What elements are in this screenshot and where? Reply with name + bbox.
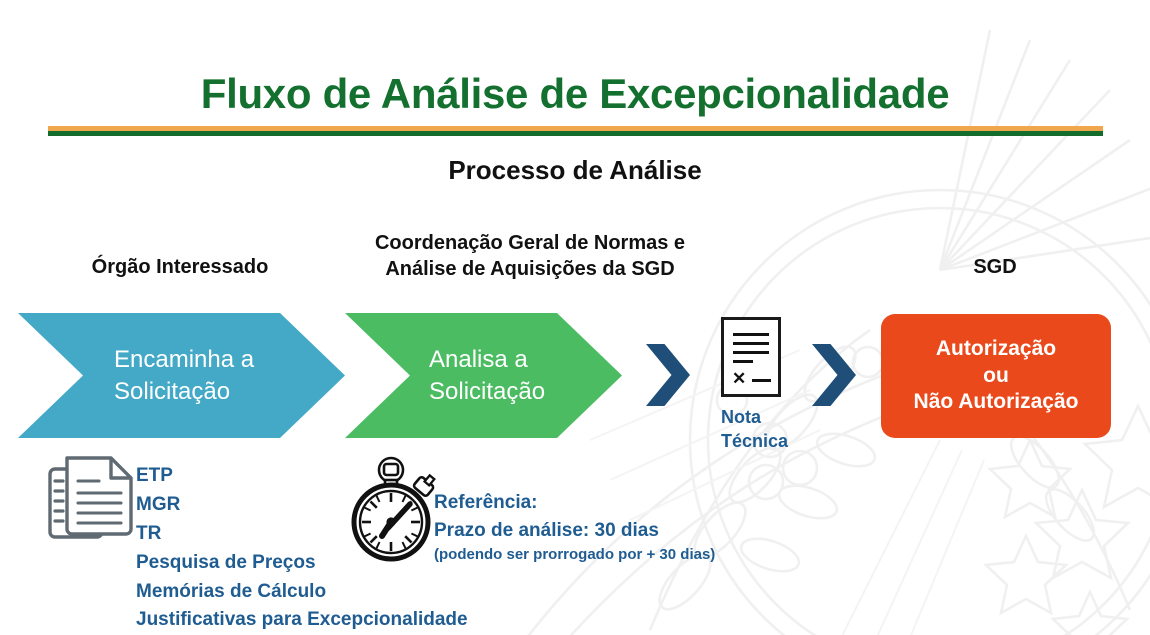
chevron-right-icon xyxy=(646,344,690,406)
signature-line xyxy=(752,379,771,382)
title-divider xyxy=(48,126,1103,136)
title-block: Fluxo de Análise de Excepcionalidade xyxy=(0,72,1150,116)
prazo-title: Referência: xyxy=(434,489,715,517)
chevron-right-icon xyxy=(812,344,856,406)
prazo-note: (podendo ser prorrogado por + 30 dias) xyxy=(434,544,715,567)
column-header-orgao: Órgão Interessado xyxy=(20,255,340,281)
process-step-encaminha-label: Encaminha a Solicitação xyxy=(114,344,254,406)
prazo-reference-block: Referência: Prazo de análise: 30 dias (p… xyxy=(434,489,715,567)
stopwatch-icon xyxy=(341,456,447,562)
doc-text-line xyxy=(733,333,769,336)
result-box-autorizacao[interactable]: Autorização ou Não Autorização xyxy=(881,314,1111,438)
doc-text-line xyxy=(733,342,769,345)
process-step-analisa-label: Analisa a Solicitação xyxy=(429,344,545,406)
nota-tecnica-label: Nota Técnica xyxy=(721,405,812,454)
slide-canvas: Fluxo de Análise de Excepcionalidade Pro… xyxy=(0,0,1150,635)
page-subtitle: Processo de Análise xyxy=(0,155,1150,186)
process-step-analisa[interactable]: Analisa a Solicitação xyxy=(345,313,622,438)
page-title: Fluxo de Análise de Excepcionalidade xyxy=(0,72,1150,116)
divider-green-band xyxy=(48,131,1103,136)
column-header-sgd: SGD xyxy=(880,255,1110,281)
document-signed-icon: ✕ xyxy=(721,317,781,397)
prazo-value: Prazo de análise: 30 dias xyxy=(434,517,715,545)
signature-x-icon: ✕ xyxy=(732,370,746,387)
list-item: Memórias de Cálculo xyxy=(136,578,468,607)
doc-text-line xyxy=(733,351,769,354)
documents-icon xyxy=(45,453,140,548)
process-step-encaminha[interactable]: Encaminha a Solicitação xyxy=(18,313,345,438)
nota-tecnica-group: ✕ Nota Técnica xyxy=(712,317,812,454)
list-item: Justificativas para Excepcionalidade xyxy=(136,606,468,635)
column-header-cgnaa: Coordenação Geral de Normas e Análise de… xyxy=(335,231,725,282)
doc-text-line xyxy=(733,360,753,363)
